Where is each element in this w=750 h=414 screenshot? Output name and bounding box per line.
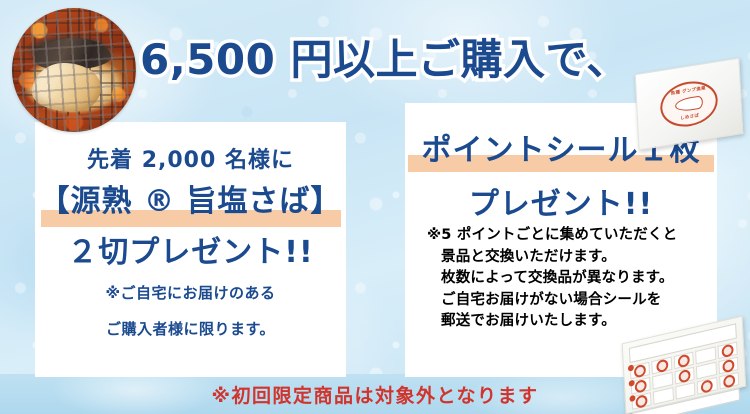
seal-arc-top-text: 魚種 グンプ漁業 [671, 85, 706, 97]
seal-arc-bottom-text: しめさば [680, 113, 699, 122]
right-offer-subtitle: プレゼント!! [405, 179, 717, 223]
right-note-line-2: 景品と交換いただけます。 [427, 247, 707, 269]
left-offer-subtitle: ２切プレゼント!! [35, 227, 346, 271]
right-body-notes: ※5 ポイントごとに集めていただくと 景品と交換いただけます。 枚数によって交換… [427, 225, 707, 333]
grilled-mackerel-photo [12, 8, 136, 132]
promo-banner: 6,500 円以上ご購入で、 魚種 グンプ漁業 しめさば [0, 0, 750, 414]
point-seal-card: 魚種 グンプ漁業 しめさば [635, 58, 744, 151]
left-lead-text: 先着 2,000 名様に [35, 142, 346, 174]
left-offer-title-text: 【源熟 ® 旨塩さば】 [40, 184, 342, 219]
right-note-line-1: ※5 ポイントごとに集めていただくと [427, 225, 707, 247]
fish-icon [675, 95, 703, 112]
fish-seal-stamp: 魚種 グンプ漁業 しめさば [659, 77, 719, 130]
left-offer-title: 【源熟 ® 旨塩さば】 [35, 176, 346, 220]
right-note-line-5: 郵送でお届けいたします。 [427, 311, 707, 333]
grill-mesh [12, 8, 136, 132]
footer-disclaimer: ※初回限定商品は対象外となります [0, 381, 750, 408]
left-note-line-2: ご購入者様に限ります。 [35, 318, 346, 339]
right-note-line-4: ご自宅お届けがない場合シールを [427, 290, 707, 312]
right-note-line-3: 枚数によって交換品が異なります。 [427, 268, 707, 290]
left-note-line-1: ※ご自宅にお届けのある [35, 282, 346, 303]
left-offer-panel: 先着 2,000 名様に 【源熟 ® 旨塩さば】 ２切プレゼント!! ※ご自宅に… [35, 122, 346, 377]
